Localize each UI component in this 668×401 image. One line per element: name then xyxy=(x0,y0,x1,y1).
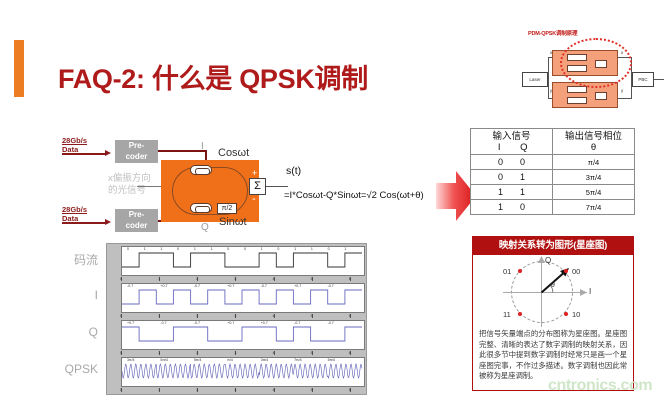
mini-port-x-label: x xyxy=(550,50,552,55)
waveform-value-label: 1 xyxy=(294,247,296,251)
waveform-value-label: 1 xyxy=(261,247,263,251)
input-top-arrow-line xyxy=(62,153,106,155)
waveform-value-label: 1 xyxy=(194,247,196,251)
waveform-value-label: π/4 xyxy=(227,358,232,362)
mini-diagram-caption: PDM-QPSK调制原理 xyxy=(528,29,577,37)
time-axis-tick-label: 1 xyxy=(158,388,160,392)
arm-bottom-label: Sinωt xyxy=(219,216,247,228)
mz-arm-q xyxy=(190,203,212,213)
cell-i: 0 xyxy=(490,157,512,167)
time-axis-tick-label: 2 xyxy=(196,277,198,281)
waveform-value-label: 0 xyxy=(177,247,179,251)
table-row: 115π/4 xyxy=(471,185,635,200)
waveform-value-label: -0.7 xyxy=(194,284,200,288)
constellation-point-11 xyxy=(518,312,522,316)
time-axis-tick-label: 4 xyxy=(273,351,275,355)
waveform-value-label: 3π/4 xyxy=(127,358,134,362)
mini-laser-box: Laser xyxy=(522,72,548,87)
title-accent-bar xyxy=(14,40,24,97)
constellation-plot: 00 01 11 10 Q I θ xyxy=(473,255,633,327)
cell-input-iq: 10 xyxy=(471,200,553,215)
mini-pbc-box: PBC xyxy=(632,72,654,87)
time-axis-tick-label: 4 xyxy=(273,388,275,392)
time-axis-tick-label: 2 xyxy=(196,314,198,318)
waveform-value-label: -0.7 xyxy=(194,321,200,325)
waveform-value-label: 5π/4 xyxy=(160,358,167,362)
cell-theta: 5π/4 xyxy=(553,185,635,200)
waveform-value-label: +0.7 xyxy=(294,284,301,288)
waveform-value-label: 1 xyxy=(144,247,146,251)
optical-input-line xyxy=(137,186,163,187)
time-axis-tick-label: 0 xyxy=(120,351,122,355)
waveform-row-label: I xyxy=(50,288,98,302)
waveform-value-label: 3π/4 xyxy=(261,358,268,362)
table-row: 00π/4 xyxy=(471,155,635,170)
cell-i: 1 xyxy=(490,202,512,212)
constellation-label-01: 01 xyxy=(503,267,511,276)
time-axis-tick-label: 4 xyxy=(273,314,275,318)
optical-input-note: x偏振方向 的光信号 xyxy=(108,173,151,197)
header-output-symbol: θ xyxy=(553,142,634,153)
page-title: FAQ-2: 什么是 QPSK调制 xyxy=(58,57,368,96)
time-axis-tick-label: 6 xyxy=(349,351,351,355)
time-axis-tick-label: 3 xyxy=(234,314,236,318)
waveform-panel: 011011001011010123456-0.7+0.7-0.7+0.7-0.… xyxy=(106,243,367,395)
cell-input-iq: 01 xyxy=(471,170,553,185)
waveform-row-label: QPSK xyxy=(50,362,98,376)
combiner-plus-sign: + xyxy=(252,168,257,178)
header-input-q: Q xyxy=(513,142,535,153)
time-axis-tick-label: 2 xyxy=(196,351,198,355)
time-axis-tick-label: 5 xyxy=(311,314,313,318)
waveform-value-label: 1 xyxy=(344,247,346,251)
time-axis-tick-label: 3 xyxy=(234,277,236,281)
waveform-value-label: -0.7 xyxy=(127,284,133,288)
waveform-value-label: 0 xyxy=(127,247,129,251)
constellation-header: 映射关系转为图形(星座图) xyxy=(473,237,633,255)
constellation-angle-label: θ xyxy=(551,282,555,289)
time-axis-tick-label: 0 xyxy=(120,314,122,318)
arm-top-label: Cosωt xyxy=(218,147,249,159)
waveform-row-label: 码流 xyxy=(50,251,98,268)
time-axis-tick-label: 6 xyxy=(349,314,351,318)
input-top-rate-label: 28Gb/s Data xyxy=(62,137,87,154)
waveform-value-label: -0.7 xyxy=(328,284,334,288)
pdm-qpsk-mini-diagram: PDM-QPSK调制原理 Laser PBC x y x y xyxy=(520,24,666,112)
cell-theta: π/4 xyxy=(553,155,635,170)
cell-q: 1 xyxy=(512,187,534,197)
table-header-row: 输入信号 I Q 输出信号相位 θ xyxy=(471,129,635,155)
cell-theta: 7π/4 xyxy=(553,200,635,215)
mini-connector xyxy=(548,79,549,99)
mini-port-y-label: y xyxy=(550,88,552,93)
waveform-value-label: 1 xyxy=(160,247,162,251)
input-top-arrow-head xyxy=(105,150,111,156)
output-equation: =I*Cosωt-Q*Sinωt=√2 Cos(ωt+θ) xyxy=(284,190,424,201)
waveform-value-label: -0.7 xyxy=(294,321,300,325)
input-bottom-arrow-line xyxy=(62,222,106,224)
constellation-axis-arrows xyxy=(473,255,635,327)
label-q: Q xyxy=(201,222,209,233)
cell-i: 0 xyxy=(490,172,512,182)
time-axis-tick-label: 4 xyxy=(273,277,275,281)
time-axis-tick-label: 6 xyxy=(349,388,351,392)
modulator-output-line xyxy=(266,186,288,187)
waveform-value-label: -0.7 xyxy=(261,284,267,288)
phase-shifter-box: π/2 xyxy=(217,203,237,214)
waveform-value-label: 0 xyxy=(244,247,246,251)
constellation-label-10: 10 xyxy=(572,310,580,319)
cell-theta: 3π/4 xyxy=(553,170,635,185)
constellation-description: 把信号矢量端点的分布图称为星座图。星座图完整、清晰的表达了数字调制的映射关系，因… xyxy=(473,327,633,382)
waveform-value-label: 0 xyxy=(227,247,229,251)
mini-connector xyxy=(618,98,632,99)
header-output: 输出信号相位 θ xyxy=(553,129,635,155)
truth-table: 输入信号 I Q 输出信号相位 θ 00π/4013π/4115π/4107π/… xyxy=(470,128,635,215)
constellation-axis-i-label: I xyxy=(589,287,591,296)
waveform-value-label: +0.7 xyxy=(160,284,167,288)
constellation-point-10 xyxy=(564,312,568,316)
time-axis-tick-label: 3 xyxy=(234,388,236,392)
cell-input-iq: 00 xyxy=(471,155,553,170)
waveform-value-label: -0.7 xyxy=(160,321,166,325)
cell-q: 0 xyxy=(512,157,534,167)
cell-q: 0 xyxy=(512,202,534,212)
time-axis-tick-label: 1 xyxy=(158,277,160,281)
waveform-value-label: 0 xyxy=(277,247,279,251)
constellation-point-01 xyxy=(518,269,522,273)
time-axis-tick-label: 5 xyxy=(311,388,313,392)
cell-input-iq: 11 xyxy=(471,185,553,200)
waveform-value-label: +0.7 xyxy=(127,321,134,325)
time-axis-tick-label: 0 xyxy=(120,277,122,281)
output-signal-name: s(t) xyxy=(286,165,301,177)
mini-connector xyxy=(548,57,549,79)
constellation-card: 映射关系转为图形(星座图) 00 01 11 10 Q I θ 把信号矢 xyxy=(472,236,634,391)
mini-highlight-circle xyxy=(560,38,632,88)
time-axis-tick-label: 5 xyxy=(311,351,313,355)
watermark: cntronics.com xyxy=(548,377,652,395)
time-axis-tick-label: 5 xyxy=(311,277,313,281)
constellation-label-11: 11 xyxy=(503,310,511,319)
waveform-value-label: -0.7 xyxy=(328,321,334,325)
waveform-value-label: +0.7 xyxy=(227,321,234,325)
time-axis-tick-label: 0 xyxy=(120,388,122,392)
waveform-value-label: 5π/4 xyxy=(328,358,335,362)
time-axis-tick-label: 6 xyxy=(349,277,351,281)
constellation-label-00: 00 xyxy=(572,267,580,276)
waveform-value-label: 1 xyxy=(311,247,313,251)
waveform-value-label: 0 xyxy=(328,247,330,251)
input-bottom-arrow-head xyxy=(105,219,111,225)
time-axis-tick-label: 3 xyxy=(234,351,236,355)
waveform-value-label: 1 xyxy=(211,247,213,251)
cell-q: 1 xyxy=(512,172,534,182)
waveform-value-label: +0.7 xyxy=(227,284,234,288)
precoder-top: Pre- coder xyxy=(115,140,158,163)
time-axis-tick-label: 1 xyxy=(158,314,160,318)
waveform-row-label: Q xyxy=(50,325,98,339)
label-i: I xyxy=(201,141,204,152)
header-input-i: I xyxy=(488,142,510,153)
table-row: 107π/4 xyxy=(471,200,635,215)
waveform-value-label: +0.7 xyxy=(261,321,268,325)
cell-i: 1 xyxy=(490,187,512,197)
time-axis-tick-label: 1 xyxy=(158,351,160,355)
combiner-minus-sign: - xyxy=(252,193,256,205)
mz-arm-i xyxy=(190,165,212,175)
mini-connector xyxy=(654,79,664,80)
time-axis-tick-label: 2 xyxy=(196,388,198,392)
slide-canvas: FAQ-2: 什么是 QPSK调制 PDM-QPSK调制原理 Laser PBC… xyxy=(0,0,668,401)
constellation-point-00 xyxy=(564,269,568,273)
header-input: 输入信号 I Q xyxy=(471,129,553,155)
precoder-bottom: Pre- coder xyxy=(115,209,158,232)
precoder-top-out-line xyxy=(158,150,207,152)
constellation-axis-q-label: Q xyxy=(545,256,551,265)
waveform-value-label: 5π/4 xyxy=(194,358,201,362)
input-bottom-rate-label: 28Gb/s Data xyxy=(62,206,87,223)
table-row: 013π/4 xyxy=(471,170,635,185)
mini-out-y-label: y xyxy=(621,88,623,93)
waveform-value-label: 7π/4 xyxy=(294,358,301,362)
